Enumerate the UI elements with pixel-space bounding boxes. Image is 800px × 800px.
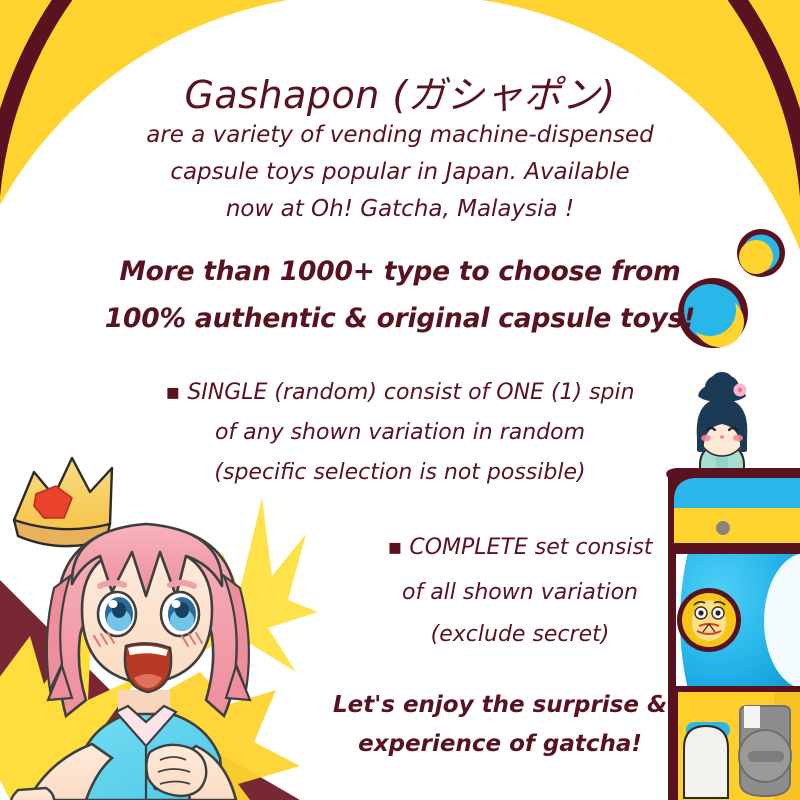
complete-line-2: of all shown variation xyxy=(120,580,800,605)
intro-line-3: now at Oh! Gatcha, Malaysia ! xyxy=(0,196,800,222)
single-line-1: ▪ SINGLE (random) consist of ONE (1) spi… xyxy=(0,380,800,405)
closing-line-1: Let's enjoy the surprise & xyxy=(100,692,800,718)
highlight-line-2: 100% authentic & original capsule toys! xyxy=(0,303,800,334)
intro-line-2: capsule toys popular in Japan. Available xyxy=(0,159,800,185)
poster-canvas: Gashapon (ガシャポン) are a variety of vendin… xyxy=(0,0,800,800)
single-line-2: of any shown variation in random xyxy=(0,420,800,445)
poster-text: Gashapon (ガシャポン) are a variety of vendin… xyxy=(0,0,800,800)
single-line-3: (specific selection is not possible) xyxy=(0,460,800,485)
highlight-line-1: More than 1000+ type to choose from xyxy=(0,256,800,287)
complete-line-1: ▪ COMPLETE set consist xyxy=(120,535,800,560)
closing-line-2: experience of gatcha! xyxy=(100,731,800,757)
intro-line-1: are a variety of vending machine-dispens… xyxy=(0,122,800,148)
poster-title: Gashapon (ガシャポン) xyxy=(0,64,800,119)
complete-line-3: (exclude secret) xyxy=(120,622,800,647)
